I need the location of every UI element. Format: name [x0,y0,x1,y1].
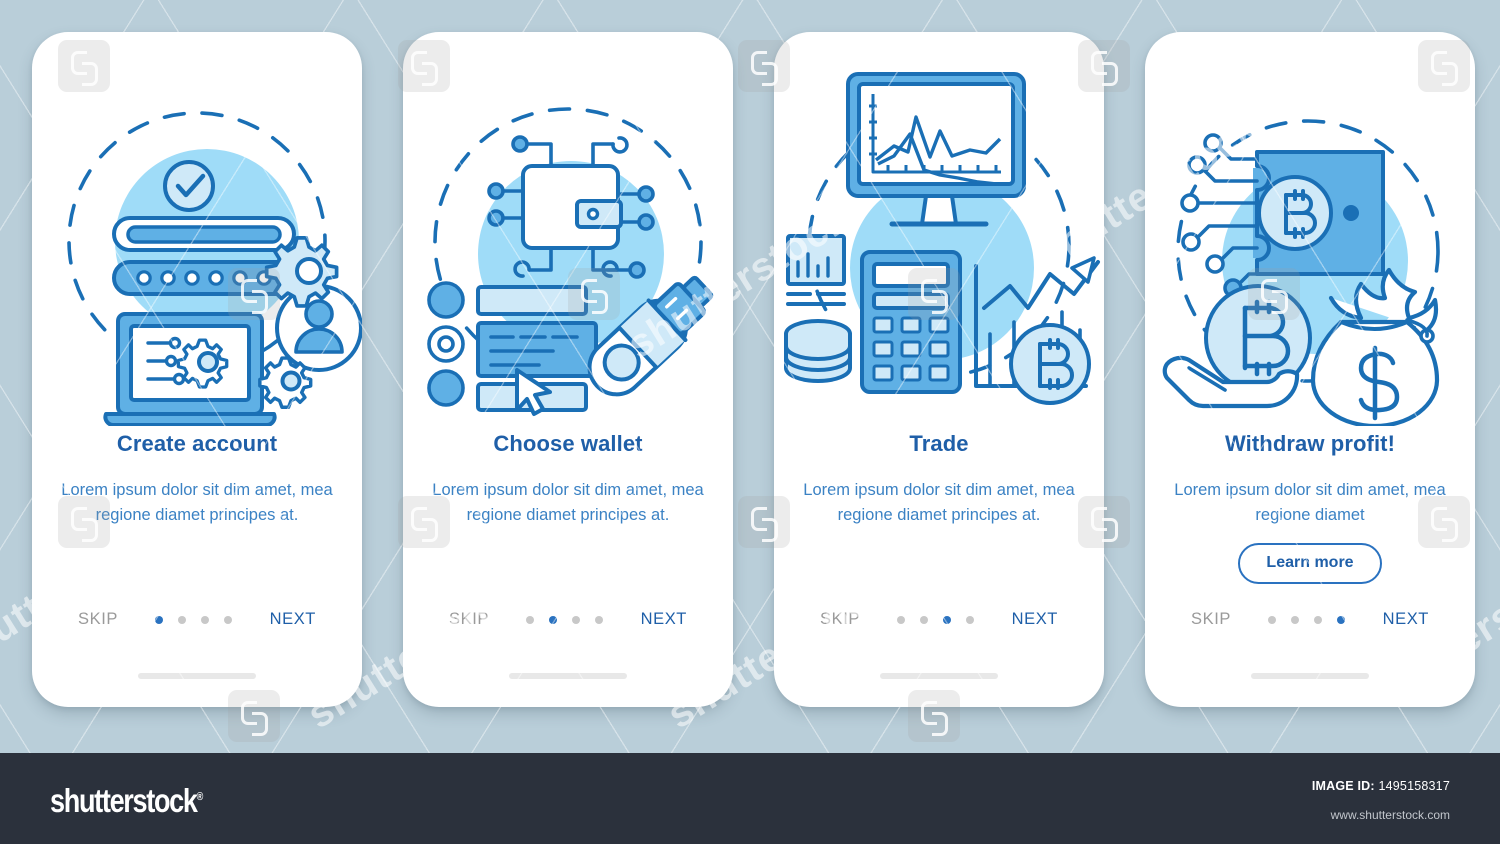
pagination-dots [526,616,603,624]
screen-copy: Choose wallet Lorem ipsum dolor sit dim … [403,432,733,527]
home-indicator [509,673,627,679]
pagination-dot-4[interactable] [595,616,603,624]
image-id-label: IMAGE ID: [1312,779,1375,793]
home-indicator [1251,673,1369,679]
pagination-dot-2[interactable] [178,616,186,624]
page-title: Choose wallet [421,432,715,456]
pagination-dot-4[interactable] [1337,616,1345,624]
pagination-dot-2[interactable] [549,616,557,624]
image-id-row: IMAGE ID: 1495158317 [1312,779,1450,793]
home-indicator [880,673,998,679]
pagination-dot-3[interactable] [1314,616,1322,624]
shutterstock-logo: shutterstock® [50,782,203,820]
phone-screen-create-account: Create account Lorem ipsum dolor sit dim… [32,32,362,707]
pagination-dot-1[interactable] [155,616,163,624]
pagination-dot-2[interactable] [1291,616,1299,624]
page-title: Withdraw profit! [1163,432,1457,456]
page-description: Lorem ipsum dolor sit dim amet, mea regi… [50,478,344,527]
page-description: Lorem ipsum dolor sit dim amet, mea regi… [421,478,715,527]
choose-wallet-illustration [403,46,733,426]
page-title: Create account [50,432,344,456]
next-button[interactable]: NEXT [1012,610,1058,629]
onboarding-footer-nav: SKIP NEXT [32,610,362,629]
skip-button[interactable]: SKIP [820,610,860,629]
shutterstock-logo-text: shutterstock [50,782,197,819]
pagination-dot-3[interactable] [572,616,580,624]
onboarding-footer-nav: SKIP NEXT [1145,610,1475,629]
pagination-dot-4[interactable] [224,616,232,624]
home-indicator [138,673,256,679]
pagination-dot-3[interactable] [943,616,951,624]
pagination-dots [155,616,232,624]
phone-screen-trade: Trade Lorem ipsum dolor sit dim amet, me… [774,32,1104,707]
next-button[interactable]: NEXT [270,610,316,629]
pagination-dot-4[interactable] [966,616,974,624]
onboarding-footer-nav: SKIP NEXT [774,610,1104,629]
screen-copy: Withdraw profit! Lorem ipsum dolor sit d… [1145,432,1475,584]
skip-button[interactable]: SKIP [449,610,489,629]
pagination-dot-1[interactable] [897,616,905,624]
pagination-dot-2[interactable] [920,616,928,624]
withdraw-profit-illustration [1145,46,1475,426]
shutterstock-url: www.shutterstock.com [1312,808,1450,822]
bottom-bar-info: IMAGE ID: 1495158317 www.shutterstock.co… [1312,779,1450,822]
image-id-value: 1495158317 [1378,779,1450,793]
learn-more-button[interactable]: Learn more [1238,543,1381,584]
skip-button[interactable]: SKIP [1191,610,1231,629]
onboarding-footer-nav: SKIP NEXT [403,610,733,629]
page-title: Trade [792,432,1086,456]
page-description: Lorem ipsum dolor sit dim amet, mea regi… [1163,478,1457,527]
screen-copy: Trade Lorem ipsum dolor sit dim amet, me… [774,432,1104,527]
registered-mark: ® [197,791,204,803]
trade-illustration [774,46,1104,426]
pagination-dot-1[interactable] [526,616,534,624]
shutterstock-bottom-bar: shutterstock® IMAGE ID: 1495158317 www.s… [0,753,1500,844]
create-account-illustration [32,46,362,426]
pagination-dots [1268,616,1345,624]
pagination-dot-3[interactable] [201,616,209,624]
phone-screen-withdraw-profit: Withdraw profit! Lorem ipsum dolor sit d… [1145,32,1475,707]
skip-button[interactable]: SKIP [78,610,118,629]
screen-copy: Create account Lorem ipsum dolor sit dim… [32,432,362,527]
next-button[interactable]: NEXT [1383,610,1429,629]
pagination-dot-1[interactable] [1268,616,1276,624]
page-description: Lorem ipsum dolor sit dim amet, mea regi… [792,478,1086,527]
pagination-dots [897,616,974,624]
next-button[interactable]: NEXT [641,610,687,629]
phone-mockup-stage: Create account Lorem ipsum dolor sit dim… [0,0,1500,753]
phone-screen-choose-wallet: Choose wallet Lorem ipsum dolor sit dim … [403,32,733,707]
